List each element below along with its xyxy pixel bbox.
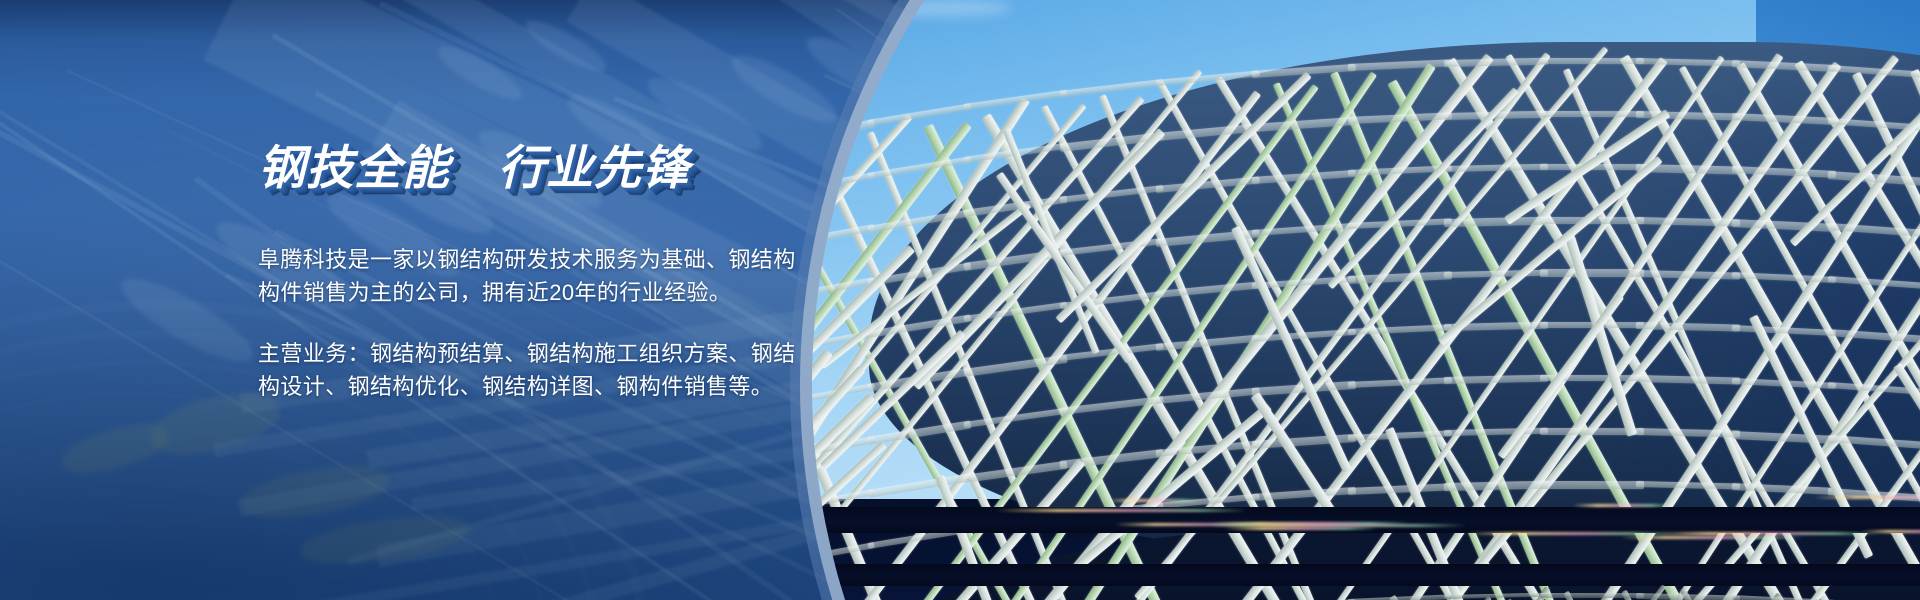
- stadium-photo-circle: [812, 0, 1920, 600]
- lattice-strut: [1540, 111, 1644, 117]
- stadium-light-strip: [995, 509, 1248, 512]
- stadium-light-strip: [1108, 499, 1201, 502]
- birds-nest-stadium-photo: [812, 0, 1920, 600]
- stadium-light-strip: [1211, 522, 1410, 525]
- cloud: [872, 0, 1012, 16]
- banner-paragraph-company: 阜腾科技是一家以钢结构研发技术服务为基础、钢结构构件销售为主的公司，拥有近20年…: [258, 243, 798, 310]
- stadium-light-strip: [1465, 532, 1674, 535]
- stadium-light-strip: [1651, 532, 1880, 535]
- horizon-dark-band: [812, 564, 1920, 586]
- banner-text-block: 钢技全能 行业先锋 阜腾科技是一家以钢结构研发技术服务为基础、钢结构构件销售为主…: [258, 142, 798, 403]
- stadium-light-strip: [1573, 504, 1671, 507]
- banner-headline: 钢技全能 行业先锋: [258, 142, 798, 195]
- lattice-strut: [1540, 58, 1644, 64]
- lattice-strut: [1540, 269, 1644, 277]
- lattice-strut: [1540, 481, 1644, 489]
- hero-banner: 钢技全能 行业先锋 阜腾科技是一家以钢结构研发技术服务为基础、钢结构构件销售为主…: [0, 0, 1920, 600]
- banner-paragraph-services: 主营业务：钢结构预结算、钢结构施工组织方案、钢结构设计、钢结构优化、钢结构详图、…: [258, 337, 798, 404]
- stadium-light-strip: [1620, 536, 1803, 539]
- lattice-strut-reflection: [1540, 593, 1644, 598]
- stadium-light-strip: [1224, 527, 1377, 530]
- stadium-light-strip: [1814, 496, 1920, 499]
